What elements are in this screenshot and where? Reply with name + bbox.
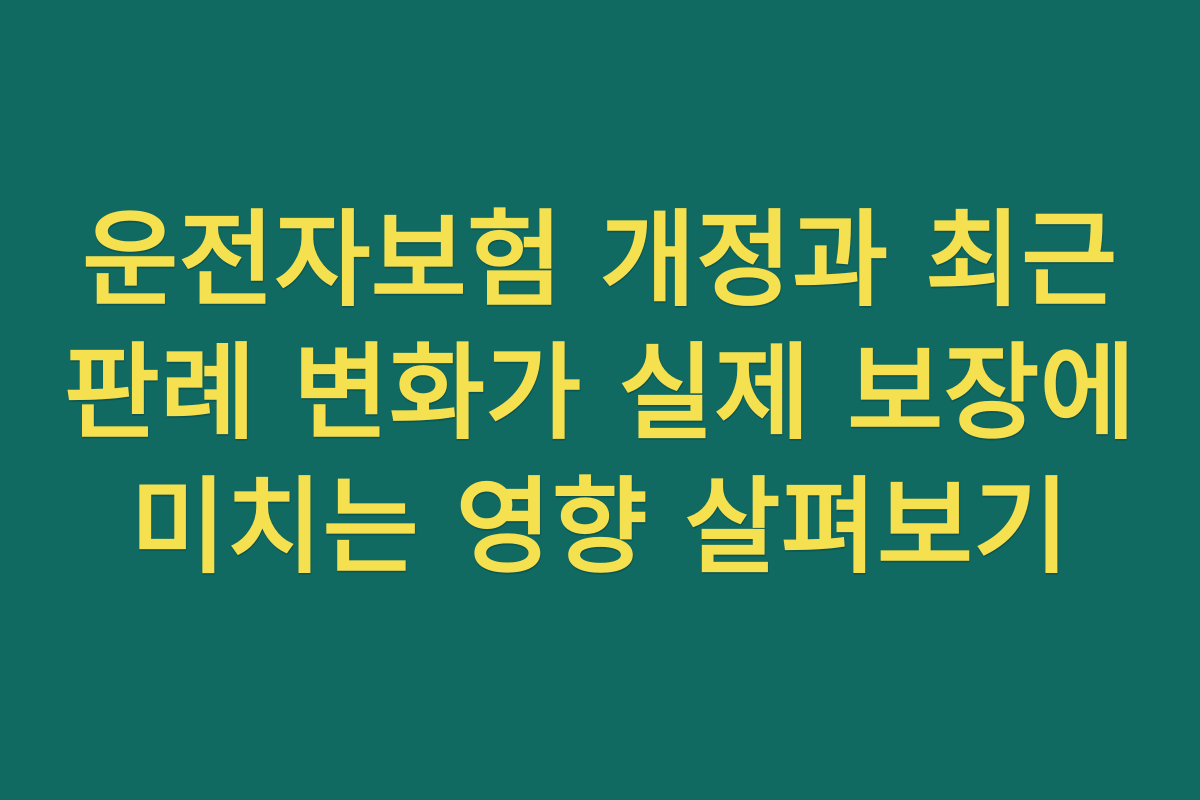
title-line-3: 미치는 영향 살펴보기 [130,461,1069,594]
thumbnail-card: 운전자보험 개정과 최근 판례 변화가 실제 보장에 미치는 영향 살펴보기 [0,0,1200,800]
title-block: 운전자보험 개정과 최근 판례 변화가 실제 보장에 미치는 영향 살펴보기 [70,194,1130,593]
title-line-2: 판례 변화가 실제 보장에 [64,327,1136,460]
title-line-1: 운전자보험 개정과 최근 [82,194,1117,327]
